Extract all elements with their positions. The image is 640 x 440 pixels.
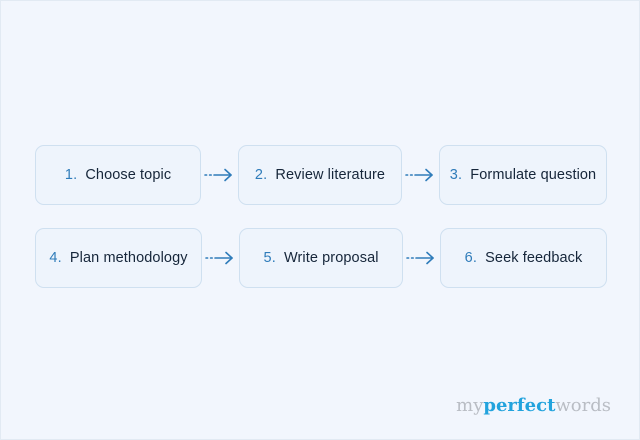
step-box-6[interactable]: 6. Seek feedback (440, 228, 607, 288)
connector-5-6 (403, 228, 440, 288)
diagram-canvas: 1. Choose topic 2. Review literature (0, 0, 640, 440)
step-label-1: Choose topic (85, 167, 171, 183)
brand-logo: myperfectwords (456, 397, 611, 415)
connector-2-3 (402, 145, 439, 205)
step-label-6: Seek feedback (485, 250, 582, 266)
step-label-5: Write proposal (284, 250, 379, 266)
step-label-2: Review literature (275, 167, 385, 183)
logo-part-perfect: perfect (483, 395, 555, 416)
logo-part-my: my (456, 395, 483, 416)
arrow-right-icon (205, 251, 236, 265)
step-number-6: 6. (465, 250, 478, 266)
flow-row-2: 4. Plan methodology 5. Write proposal (35, 228, 607, 288)
step-box-2[interactable]: 2. Review literature (238, 145, 402, 205)
step-label-3: Formulate question (470, 167, 596, 183)
step-number-2: 2. (255, 167, 268, 183)
connector-1-2 (201, 145, 238, 205)
step-number-5: 5. (263, 250, 276, 266)
arrow-right-icon (204, 168, 235, 182)
step-number-1: 1. (65, 167, 78, 183)
flowchart: 1. Choose topic 2. Review literature (35, 145, 607, 288)
connector-4-5 (202, 228, 239, 288)
step-label-4: Plan methodology (70, 250, 188, 266)
step-number-3: 3. (450, 167, 463, 183)
step-box-1[interactable]: 1. Choose topic (35, 145, 201, 205)
step-box-5[interactable]: 5. Write proposal (239, 228, 403, 288)
arrow-right-icon (405, 168, 436, 182)
step-number-4: 4. (49, 250, 62, 266)
arrow-right-icon (406, 251, 437, 265)
step-box-4[interactable]: 4. Plan methodology (35, 228, 202, 288)
step-box-3[interactable]: 3. Formulate question (439, 145, 607, 205)
flow-row-1: 1. Choose topic 2. Review literature (35, 145, 607, 205)
logo-part-words: words (555, 395, 611, 416)
